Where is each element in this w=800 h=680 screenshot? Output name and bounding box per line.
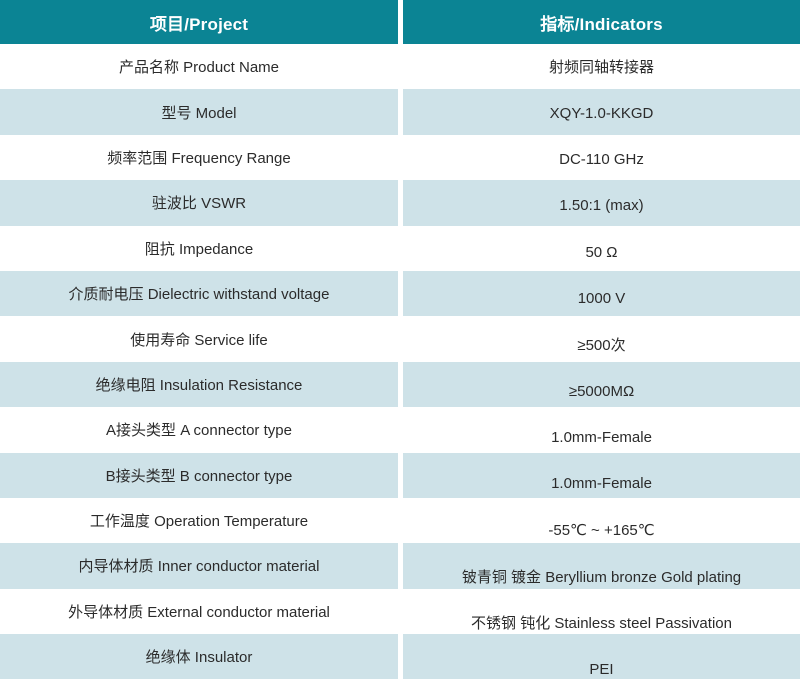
row-label-cell: 频率范围 Frequency Range <box>0 135 398 180</box>
table-row: 产品名称 Product Name射频同轴转接器 <box>0 44 800 89</box>
row-label-cell: 使用寿命 Service life <box>0 316 398 361</box>
row-label-text: 绝缘体 Insulator <box>146 646 253 667</box>
row-label-text: B接头类型 B connector type <box>106 465 293 486</box>
row-value-text: 不锈钢 钝化 Stainless steel Passivation <box>471 612 732 633</box>
table-row: 使用寿命 Service life≥500次 <box>0 316 800 361</box>
column-header-indicators: 指标/Indicators <box>403 0 800 44</box>
table-row: B接头类型 B connector type1.0mm-Female <box>0 453 800 498</box>
table-row: 驻波比 VSWR1.50:1 (max) <box>0 180 800 225</box>
row-label-cell: A接头类型 A connector type <box>0 407 398 452</box>
row-label-cell: 外导体材质 External conductor material <box>0 589 398 634</box>
row-label-text: 产品名称 Product Name <box>119 56 279 77</box>
row-label-cell: 驻波比 VSWR <box>0 180 398 225</box>
row-value-cell: 50 Ω <box>403 226 800 271</box>
row-label-text: 型号 Model <box>161 102 236 123</box>
row-value-cell: -55℃ ~ +165℃ <box>403 498 800 543</box>
row-value-cell: 1.0mm-Female <box>403 453 800 498</box>
specification-table: 项目/Project 指标/Indicators 产品名称 Product Na… <box>0 0 800 680</box>
row-value-text: -55℃ ~ +165℃ <box>548 521 654 539</box>
row-label-cell: 绝缘电阻 Insulation Resistance <box>0 362 398 407</box>
row-label-text: 阻抗 Impedance <box>145 238 253 259</box>
table-row: A接头类型 A connector type1.0mm-Female <box>0 407 800 452</box>
row-label-cell: 阻抗 Impedance <box>0 226 398 271</box>
row-value-text: XQY-1.0-KKGD <box>550 105 654 122</box>
table-row: 绝缘电阻 Insulation Resistance≥5000MΩ <box>0 362 800 407</box>
row-value-text: ≥5000MΩ <box>569 383 634 400</box>
row-value-cell: 不锈钢 钝化 Stainless steel Passivation <box>403 589 800 634</box>
row-value-cell: 1000 V <box>403 271 800 316</box>
table-row: 频率范围 Frequency RangeDC-110 GHz <box>0 135 800 180</box>
row-value-text: ≥500次 <box>577 334 625 355</box>
row-value-text: 1.0mm-Female <box>551 475 652 492</box>
row-value-text: 铍青铜 镀金 Beryllium bronze Gold plating <box>462 566 741 587</box>
row-label-cell: 产品名称 Product Name <box>0 44 398 89</box>
row-value-text: 1.0mm-Female <box>551 429 652 446</box>
row-value-cell: PEI <box>403 634 800 679</box>
row-label-text: 内导体材质 Inner conductor material <box>79 555 320 576</box>
row-value-text: 1.50:1 (max) <box>559 197 643 214</box>
table-header-row: 项目/Project 指标/Indicators <box>0 0 800 44</box>
column-header-project: 项目/Project <box>0 0 398 44</box>
row-label-text: A接头类型 A connector type <box>106 419 292 440</box>
table-row: 阻抗 Impedance50 Ω <box>0 226 800 271</box>
row-value-text: PEI <box>589 661 613 678</box>
row-value-cell: 1.0mm-Female <box>403 407 800 452</box>
row-label-text: 使用寿命 Service life <box>130 329 268 350</box>
row-label-text: 频率范围 Frequency Range <box>107 147 290 168</box>
row-value-cell: 射频同轴转接器 <box>403 44 800 89</box>
row-label-text: 驻波比 VSWR <box>152 192 246 213</box>
row-value-text: 射频同轴转接器 <box>549 56 654 77</box>
row-value-cell: XQY-1.0-KKGD <box>403 89 800 134</box>
table-row: 介质耐电压 Dielectric withstand voltage1000 V <box>0 271 800 316</box>
row-label-cell: 介质耐电压 Dielectric withstand voltage <box>0 271 398 316</box>
row-value-cell: ≥5000MΩ <box>403 362 800 407</box>
row-label-cell: 内导体材质 Inner conductor material <box>0 543 398 588</box>
table-body: 产品名称 Product Name射频同轴转接器型号 ModelXQY-1.0-… <box>0 44 800 679</box>
row-value-cell: 1.50:1 (max) <box>403 180 800 225</box>
table-row: 绝缘体 InsulatorPEI <box>0 634 800 679</box>
table-row: 型号 ModelXQY-1.0-KKGD <box>0 89 800 134</box>
column-header-project-label: 项目/Project <box>150 10 248 35</box>
column-header-indicators-label: 指标/Indicators <box>540 10 663 35</box>
row-value-cell: 铍青铜 镀金 Beryllium bronze Gold plating <box>403 543 800 588</box>
row-value-text: 1000 V <box>578 290 626 307</box>
row-label-text: 外导体材质 External conductor material <box>68 601 330 622</box>
row-value-cell: ≥500次 <box>403 316 800 361</box>
row-label-cell: 工作温度 Operation Temperature <box>0 498 398 543</box>
row-label-cell: 型号 Model <box>0 89 398 134</box>
row-label-cell: B接头类型 B connector type <box>0 453 398 498</box>
row-label-text: 介质耐电压 Dielectric withstand voltage <box>69 283 330 304</box>
row-value-text: 50 Ω <box>585 244 617 261</box>
row-label-text: 工作温度 Operation Temperature <box>90 510 308 531</box>
row-value-text: DC-110 GHz <box>559 151 644 168</box>
table-row: 工作温度 Operation Temperature-55℃ ~ +165℃ <box>0 498 800 543</box>
row-label-cell: 绝缘体 Insulator <box>0 634 398 679</box>
row-value-cell: DC-110 GHz <box>403 135 800 180</box>
table-row: 内导体材质 Inner conductor material铍青铜 镀金 Ber… <box>0 543 800 588</box>
row-label-text: 绝缘电阻 Insulation Resistance <box>96 374 303 395</box>
table-row: 外导体材质 External conductor material不锈钢 钝化 … <box>0 589 800 634</box>
